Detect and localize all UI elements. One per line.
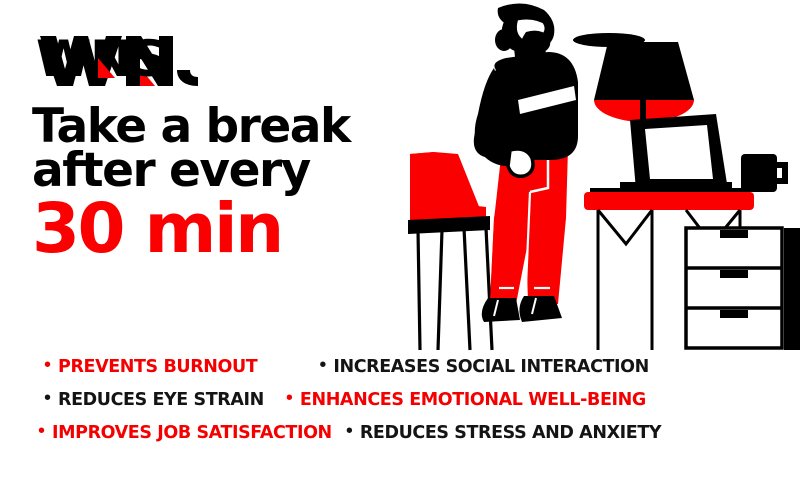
benefit-label: INCREASES SOCIAL INTERACTION <box>333 357 649 377</box>
bullet-dot-icon: • <box>319 355 326 375</box>
benefit-label: PREVENTS BURNOUT <box>58 357 257 377</box>
bullet-dot-icon: • <box>38 421 45 441</box>
benefit-label: IMPROVES JOB SATISFACTION <box>52 423 332 443</box>
headline-line-3-duration: 30 min <box>32 195 422 263</box>
benefit-item-increases-social-interaction: • INCREASES SOCIAL INTERACTION <box>319 356 649 377</box>
benefit-row: • PREVENTS BURNOUT • INCREASES SOCIAL IN… <box>0 356 800 389</box>
benefit-label: REDUCES STRESS AND ANXIETY <box>360 423 661 443</box>
benefit-row: • IMPROVES JOB SATISFACTION • REDUCES ST… <box>0 422 800 455</box>
bullet-dot-icon: • <box>286 388 293 408</box>
wns-logo-label: WNS <box>36 30 166 88</box>
bullet-dot-icon: • <box>44 355 51 375</box>
benefit-item-reduces-stress-and-anxiety: • REDUCES STRESS AND ANXIETY <box>346 422 661 443</box>
standing-person-at-desk-illustration <box>398 2 800 352</box>
laptop-icon <box>620 114 732 192</box>
headline-line-2: after every <box>32 148 422 195</box>
benefit-label: REDUCES EYE STRAIN <box>58 390 264 410</box>
benefit-item-prevents-burnout: • PREVENTS BURNOUT <box>44 356 257 377</box>
benefit-label: ENHANCES EMOTIONAL WELL-BEING <box>300 390 646 410</box>
benefit-item-reduces-eye-strain: • REDUCES EYE STRAIN <box>44 389 264 410</box>
benefit-item-improves-job-satisfaction: • IMPROVES JOB SATISFACTION <box>38 422 332 443</box>
drawer-unit-icon <box>686 228 800 350</box>
bullet-dot-icon: • <box>44 388 51 408</box>
bullet-dot-icon: • <box>346 421 353 441</box>
headline-block: Take a break after every 30 min <box>32 104 422 263</box>
coffee-mug-icon <box>741 154 788 192</box>
benefit-item-enhances-emotional-well-being: • ENHANCES EMOTIONAL WELL-BEING <box>286 389 646 410</box>
wns-logo-text-layer: WNS WNS <box>36 28 206 90</box>
benefit-row: • REDUCES EYE STRAIN • ENHANCES EMOTIONA… <box>0 389 800 422</box>
benefits-list: • PREVENTS BURNOUT • INCREASES SOCIAL IN… <box>0 356 800 468</box>
red-chair-icon <box>408 152 492 350</box>
poster-canvas: WNS WNS Take a break after every 30 min <box>0 0 800 480</box>
